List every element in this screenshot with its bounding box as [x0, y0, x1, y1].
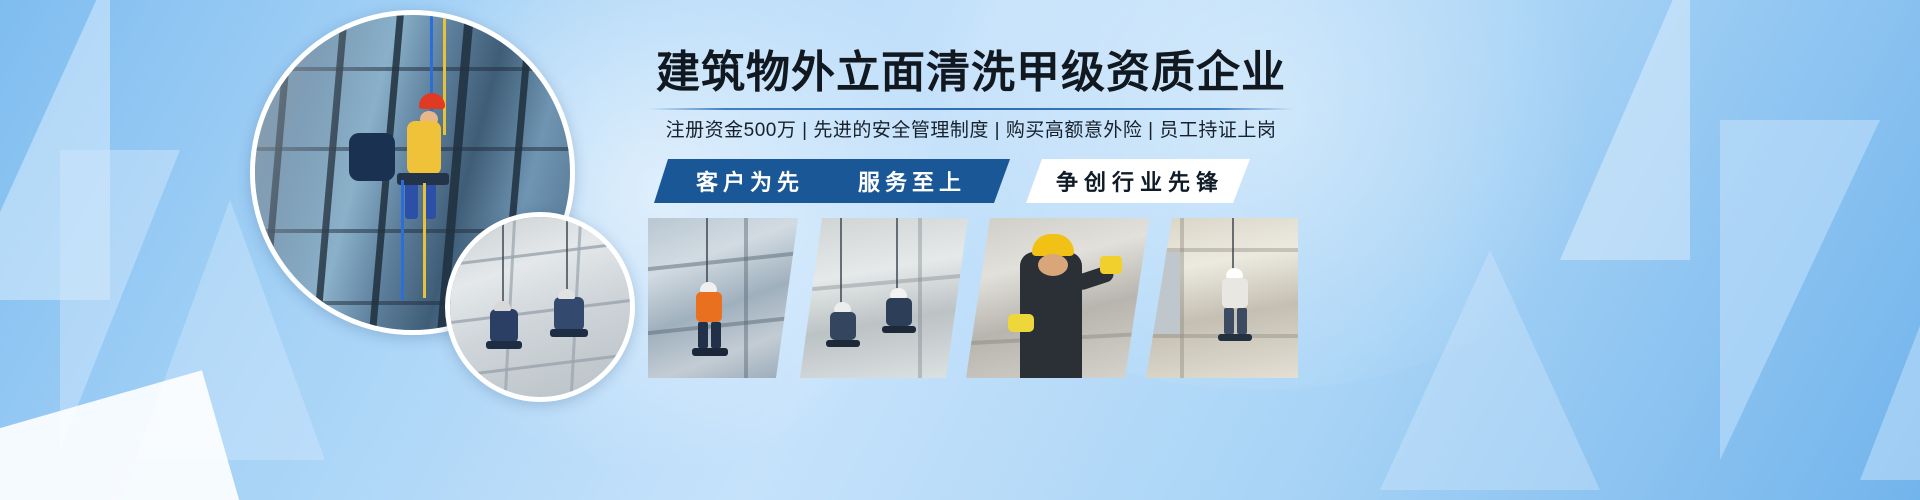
background-triangle — [1560, 0, 1690, 260]
slogan-pill-primary: 客户为先 服务至上 — [654, 159, 1010, 203]
corner-accent — [0, 370, 249, 500]
slogan-pill-highlight: 争创行业先锋 — [1026, 159, 1250, 203]
slogan-highlight-text: 争创行业先锋 — [1056, 165, 1224, 197]
headline-divider — [648, 108, 1294, 110]
slogan-primary-left: 客户为先 — [696, 165, 804, 197]
background-triangle — [1720, 120, 1880, 460]
strip-photo-4 — [1146, 218, 1298, 378]
photo-strip — [648, 218, 1296, 378]
background-triangle — [1380, 250, 1600, 490]
strip-photo-1 — [648, 218, 820, 378]
grey-wall-workers-photo — [450, 217, 630, 397]
strip-photo-3 — [966, 218, 1166, 378]
circle-photo-small — [445, 212, 635, 402]
slogan-primary-right: 服务至上 — [858, 165, 966, 197]
slogan-row: 客户为先 服务至上 争创行业先锋 — [648, 159, 1294, 203]
background-triangle — [0, 0, 110, 300]
promo-banner: 建筑物外立面清洗甲级资质企业 注册资金500万 | 先进的安全管理制度 | 购买… — [0, 0, 1920, 500]
banner-subline: 注册资金500万 | 先进的安全管理制度 | 购买高额意外险 | 员工持证上岗 — [648, 116, 1294, 146]
banner-headline: 建筑物外立面清洗甲级资质企业 — [648, 46, 1294, 100]
strip-photo-2 — [800, 218, 985, 378]
background-triangle — [1860, 300, 1920, 480]
banner-text-block: 建筑物外立面清洗甲级资质企业 注册资金500万 | 先进的安全管理制度 | 购买… — [648, 46, 1294, 203]
